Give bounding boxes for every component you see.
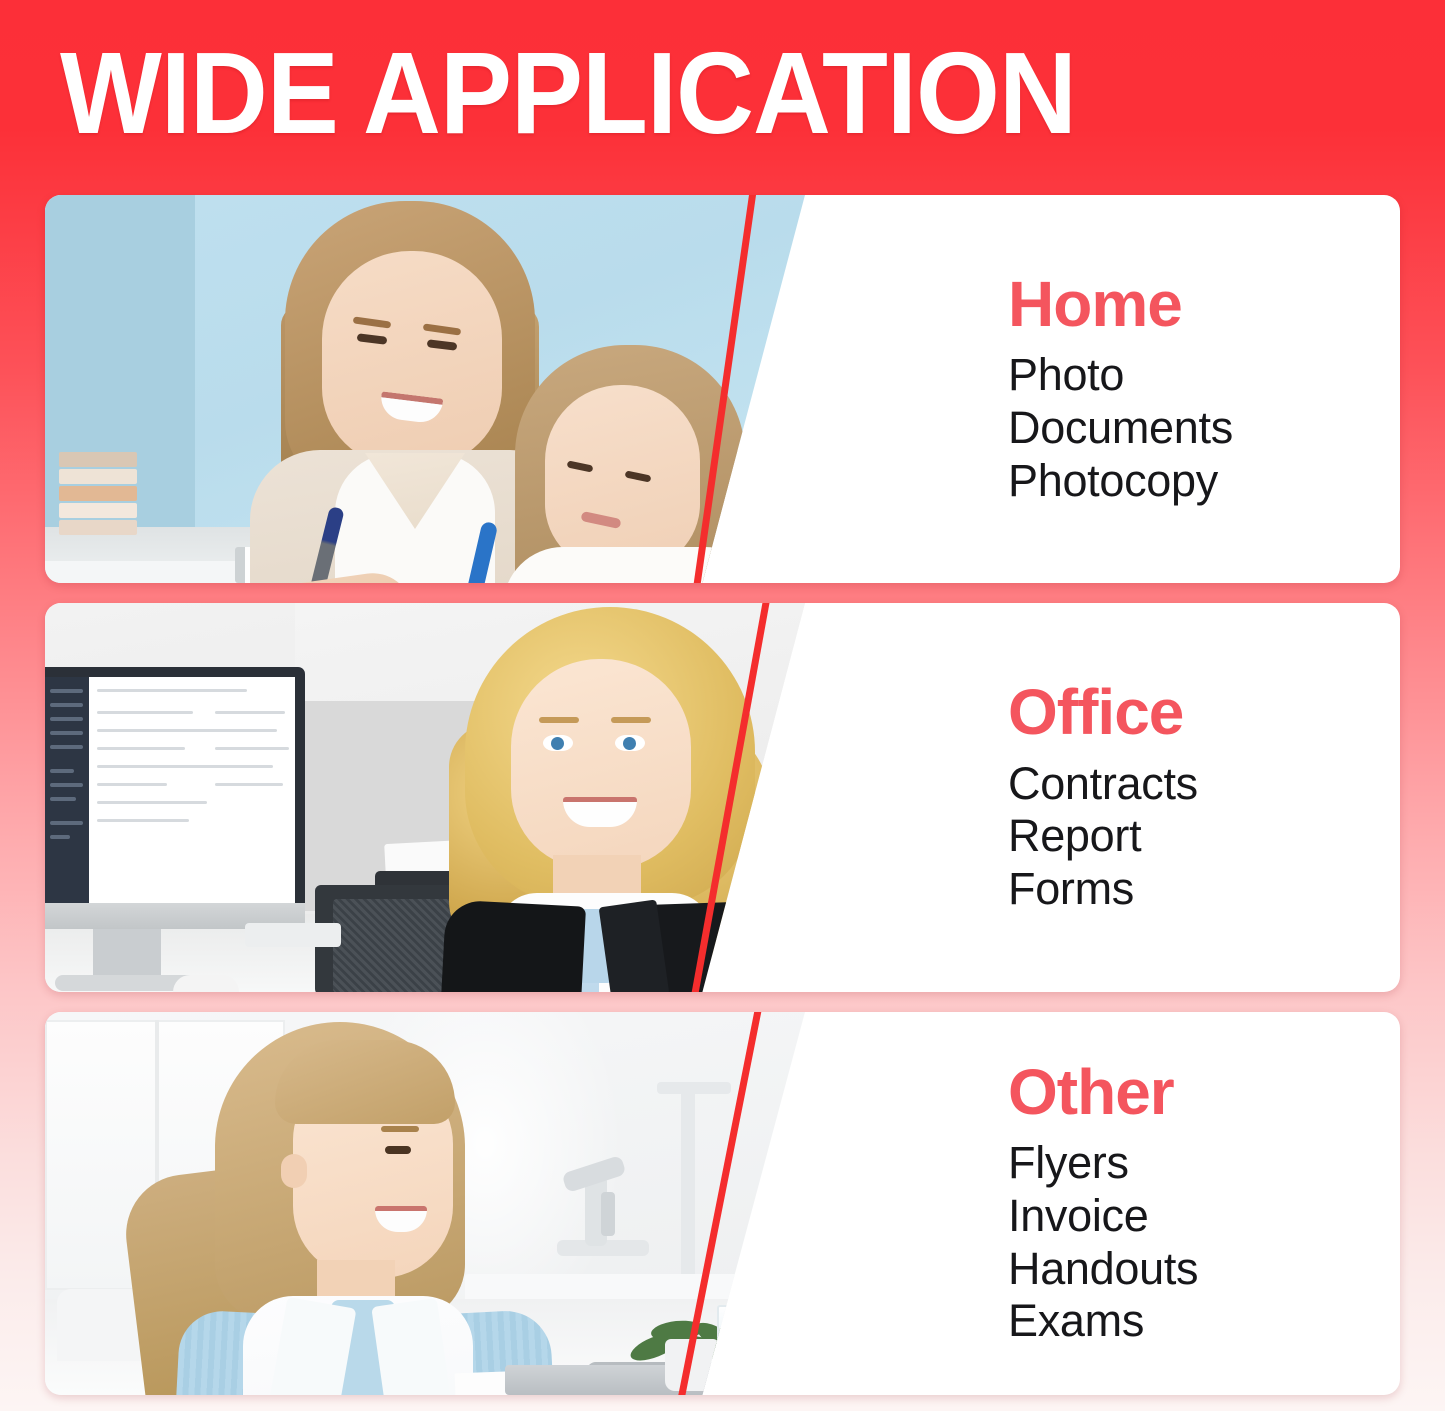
page-title: WIDE APPLICATION [60,35,1076,151]
application-card-other: Other Flyers Invoice Handouts Exams [45,1012,1400,1395]
list-item: Photo [1008,349,1400,402]
card-list-office: Contracts Report Forms [1008,758,1400,916]
photo-home-tutoring [45,195,805,583]
list-item: Handouts [1008,1243,1400,1296]
card-text-home: Home Photo Documents Photocopy [905,195,1400,583]
list-item: Invoice [1008,1190,1400,1243]
test-tube-icon [745,1321,769,1391]
list-item: Flyers [1008,1137,1400,1190]
card-list-home: Photo Documents Photocopy [1008,349,1400,507]
list-item: Exams [1008,1295,1400,1348]
card-heading-home: Home [1008,271,1400,338]
list-item: Contracts [1008,758,1400,811]
card-heading-other: Other [1008,1059,1400,1126]
card-list-other: Flyers Invoice Handouts Exams [1008,1137,1400,1348]
card-heading-office: Office [1008,679,1400,746]
header-banner: WIDE APPLICATION [0,0,1445,185]
photo-office-worker [45,603,805,992]
test-tube-icon [773,1299,797,1391]
card-photo-home [45,195,805,583]
application-card-home: Home Photo Documents Photocopy [45,195,1400,583]
list-item: Forms [1008,863,1400,916]
test-tube-icon [717,1305,741,1391]
application-card-office: Office Contracts Report Forms [45,603,1400,992]
card-text-office: Office Contracts Report Forms [905,603,1400,992]
card-text-other: Other Flyers Invoice Handouts Exams [905,1012,1400,1395]
list-item: Photocopy [1008,455,1400,508]
list-item: Documents [1008,402,1400,455]
mouse-icon [173,975,239,992]
book-stack-icon [59,449,137,535]
list-item: Report [1008,810,1400,863]
card-photo-office [45,603,805,992]
